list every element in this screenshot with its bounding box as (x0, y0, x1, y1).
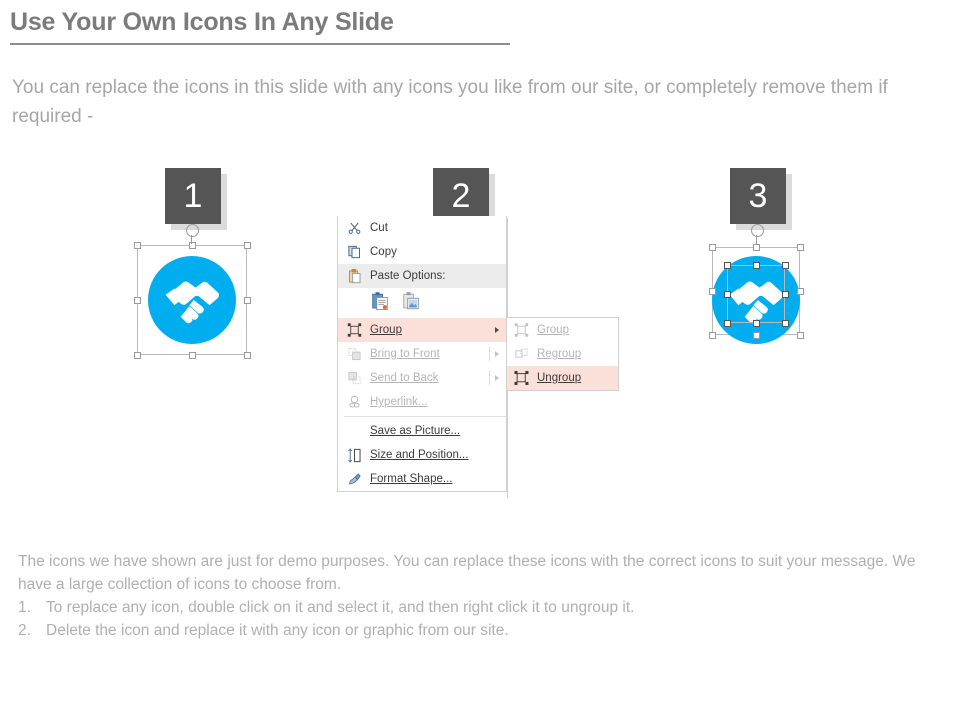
resize-handle-e[interactable] (244, 297, 251, 304)
ungroup-icon (513, 370, 530, 387)
rotation-handle[interactable] (186, 224, 200, 246)
title-underline (10, 43, 510, 45)
selection-box-inner[interactable] (727, 265, 785, 323)
menu-item-label: Hyperlink... (370, 396, 428, 408)
menu-item-cut[interactable]: Cut (338, 216, 506, 240)
inner-handle-se[interactable] (782, 320, 789, 327)
step-badge-1: 1 (165, 168, 221, 224)
resize-handle-se[interactable] (244, 352, 251, 359)
step-badge-3: 3 (730, 168, 786, 224)
submenu-item-label: Group (537, 324, 569, 336)
submenu-item-label: Regroup (537, 348, 581, 360)
resize-handle-nw[interactable] (134, 242, 141, 249)
rotation-stem (756, 235, 757, 244)
bring-to-front-icon (346, 346, 363, 363)
copy-icon (346, 244, 363, 261)
menu-divider-tick (489, 347, 490, 361)
size-position-icon (346, 447, 363, 464)
menu-item-send-to-back: Send to Back (338, 366, 506, 390)
resize-handle-s[interactable] (189, 352, 196, 359)
icon-circle-1[interactable] (148, 256, 236, 344)
list-item: 1. To replace any icon, double click on … (18, 596, 943, 619)
footer-paragraph: The icons we have shown are just for dem… (18, 550, 943, 596)
list-item-text: To replace any icon, double click on it … (46, 596, 634, 619)
format-shape-icon (346, 471, 363, 488)
inner-handle-ne[interactable] (782, 262, 789, 269)
resize-handle-w[interactable] (134, 297, 141, 304)
rotation-handle[interactable] (751, 224, 765, 246)
menu-item-label: Cut (370, 222, 388, 234)
menu-item-save-as-picture[interactable]: Save as Picture... (338, 419, 506, 443)
rotation-stem (191, 235, 192, 244)
list-item-text: Delete the icon and replace it with any … (46, 619, 509, 642)
menu-item-label: Bring to Front (370, 348, 440, 360)
inner-handle-s[interactable] (753, 320, 760, 327)
menu-item-label: Paste Options: (370, 270, 445, 282)
menu-item-label: Format Shape... (370, 473, 452, 485)
footer-text: The icons we have shown are just for dem… (18, 550, 943, 642)
menu-divider-tick (489, 371, 490, 385)
menu-item-label: Copy (370, 246, 397, 258)
resize-handle-e[interactable] (797, 288, 804, 295)
send-to-back-icon (346, 370, 363, 387)
resize-handle-sw[interactable] (709, 332, 716, 339)
group-icon (346, 322, 363, 339)
hyperlink-icon (346, 394, 363, 411)
menu-item-paste-options: Paste Options: (338, 264, 506, 288)
regroup-icon (513, 346, 530, 363)
group-submenu[interactable]: Group Regroup (506, 317, 619, 391)
list-item: 2. Delete the icon and replace it with a… (18, 619, 943, 642)
slide-subtitle: You can replace the icons in this slide … (12, 73, 957, 131)
chevron-right-icon (495, 351, 499, 357)
paste-options-row[interactable] (338, 288, 506, 318)
resize-handle-ne[interactable] (797, 244, 804, 251)
group-icon (513, 322, 530, 339)
menu-item-size-and-position[interactable]: Size and Position... (338, 443, 506, 467)
inner-handle-sw[interactable] (724, 320, 731, 327)
resize-handle-sw[interactable] (134, 352, 141, 359)
inner-handle-w[interactable] (724, 291, 731, 298)
submenu-item-label: Ungroup (537, 372, 581, 384)
rotation-ring-icon (751, 224, 764, 237)
submenu-item-regroup: Regroup (507, 342, 618, 366)
menu-item-label: Save as Picture... (370, 425, 460, 437)
resize-handle-w[interactable] (709, 288, 716, 295)
footer-list: 1. To replace any icon, double click on … (18, 596, 943, 642)
context-menu[interactable]: Cut Copy Paste Options: (337, 216, 507, 492)
inner-handle-nw[interactable] (724, 262, 731, 269)
clipboard-icon (346, 268, 363, 285)
paste-picture-icon[interactable] (401, 291, 421, 315)
menu-item-label: Size and Position... (370, 449, 468, 461)
resize-handle-nw[interactable] (709, 244, 716, 251)
paste-keep-source-formatting-icon[interactable] (370, 291, 390, 315)
inner-handle-e[interactable] (782, 291, 789, 298)
rotation-ring-icon (186, 224, 199, 237)
list-item-number: 1. (18, 596, 32, 619)
scissors-icon (346, 220, 363, 237)
menu-item-format-shape[interactable]: Format Shape... (338, 467, 506, 491)
submenu-item-ungroup[interactable]: Ungroup (507, 366, 618, 390)
list-item-number: 2. (18, 619, 32, 642)
page-title: Use Your Own Icons In Any Slide (10, 8, 394, 37)
chevron-right-icon (495, 327, 499, 333)
inner-handle-n[interactable] (753, 262, 760, 269)
resize-handle-se[interactable] (797, 332, 804, 339)
menu-item-label: Send to Back (370, 372, 438, 384)
menu-item-group[interactable]: Group Group (338, 318, 506, 342)
chevron-right-icon (495, 375, 499, 381)
menu-item-copy[interactable]: Copy (338, 240, 506, 264)
resize-handle-s[interactable] (753, 332, 760, 339)
menu-separator (344, 416, 506, 417)
menu-item-hyperlink: Hyperlink... (338, 390, 506, 414)
menu-item-label: Group (370, 324, 402, 336)
menu-item-bring-to-front: Bring to Front (338, 342, 506, 366)
handshake-icon (148, 256, 236, 344)
resize-handle-ne[interactable] (244, 242, 251, 249)
submenu-item-group: Group (507, 318, 618, 342)
